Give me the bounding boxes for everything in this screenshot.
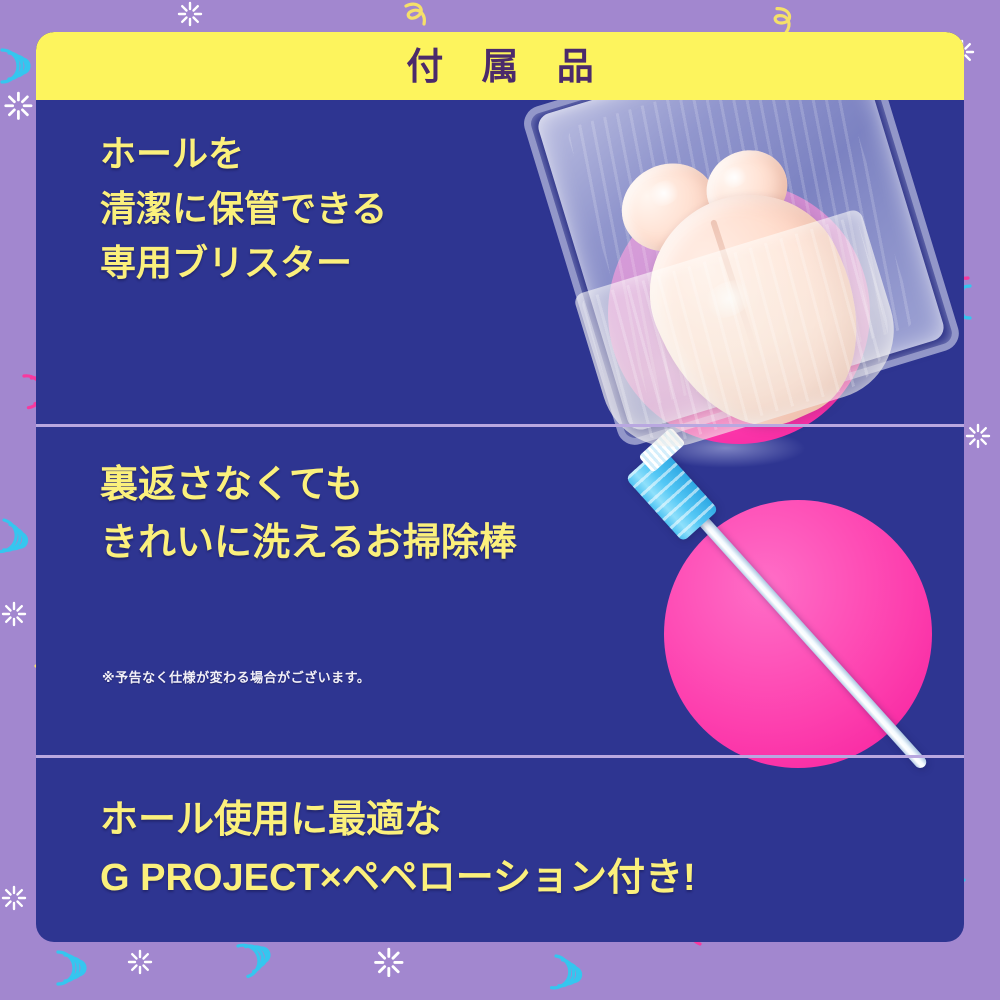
accessories-card: 付 属 品 ホールを 清潔に保管できる 専用ブリスター 裏返さなくても きれいに… — [36, 32, 964, 942]
section-stick-line-2: きれいに洗えるお掃除棒 — [100, 515, 517, 573]
page-title: 付 属 品 — [392, 48, 608, 85]
section-lotion-text: ホール使用に最適な G PROJECT×ペペローション付き! — [100, 792, 696, 908]
section-blister-line-2: 清潔に保管できる — [100, 182, 387, 237]
cleaning-stick-rod — [674, 489, 929, 771]
section-lotion-line-2: G PROJECT×ペペローション付き! — [100, 850, 696, 908]
cleaning-stick-photo — [576, 437, 964, 837]
section-blister-line-3: 専用ブリスター — [100, 236, 387, 291]
header-banner: 付 属 品 — [36, 32, 964, 100]
section-stick-text: 裏返さなくても きれいに洗えるお掃除棒 — [100, 457, 517, 573]
spec-change-note: ※予告なく仕様が変わる場合がございます。 — [102, 667, 370, 686]
section-divider-1 — [36, 424, 964, 427]
section-stick-line-1: 裏返さなくても — [100, 457, 517, 515]
section-lotion-line-1: ホール使用に最適な — [100, 792, 696, 850]
section-divider-2 — [36, 755, 964, 758]
section-blister-text: ホールを 清潔に保管できる 専用ブリスター — [100, 127, 387, 291]
section-blister-line-1: ホールを — [100, 127, 387, 182]
